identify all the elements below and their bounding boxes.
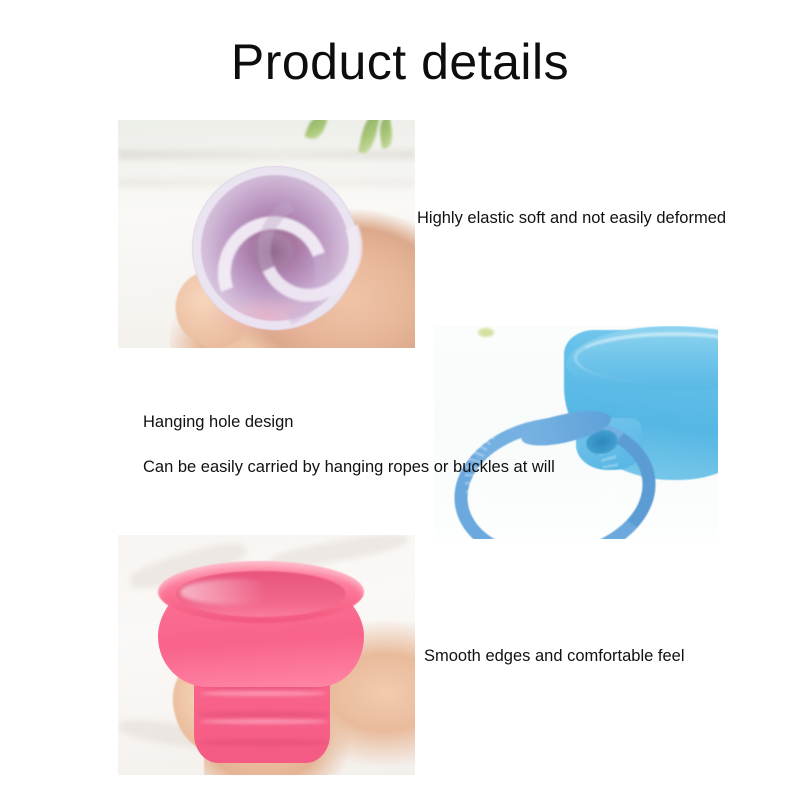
feature-caption-hanging-hole-title: Hanging hole design [143,411,293,433]
product-photo-elastic-cup [118,120,415,348]
cup-fold-ring [198,711,330,718]
leaf-icon [478,328,494,337]
product-details-page: Product details Highly elastic soft and … [0,0,800,800]
background-shelf-line [118,150,415,159]
product-photo-hanging-hole [434,326,718,539]
feature-caption-hanging-hole-body: Can be easily carried by hanging ropes o… [143,456,555,478]
product-photo-smooth-edges [118,535,415,775]
cup-fold-highlight [200,691,326,696]
cup-fold-ring [198,739,330,746]
page-title: Product details [0,34,800,90]
feature-caption-elastic: Highly elastic soft and not easily defor… [417,207,726,229]
feature-caption-smooth-edges: Smooth edges and comfortable feel [424,645,685,667]
cup-fold-highlight [200,719,328,724]
cup-highlight [180,579,288,605]
